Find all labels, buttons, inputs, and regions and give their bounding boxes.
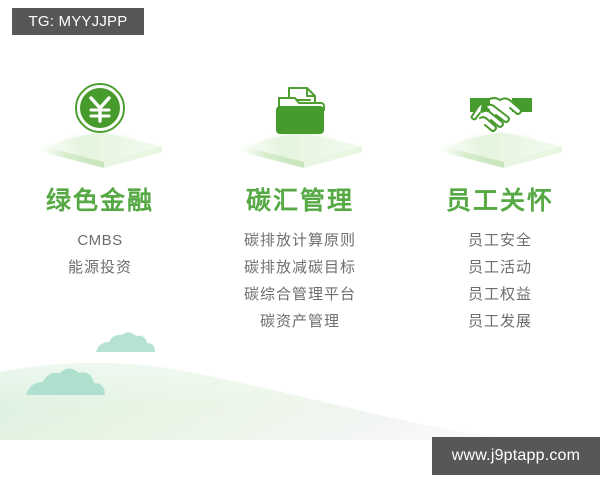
column-list-employee-care: 员工安全 员工活动 员工权益 员工发展 xyxy=(468,232,532,331)
cloud-small-upper-icon xyxy=(96,332,155,352)
column-title-carbon-sink: 碳汇管理 xyxy=(246,188,354,216)
column-title-green-finance: 绿色金融 xyxy=(46,188,154,216)
pedestal-plate xyxy=(42,132,162,168)
list-item[interactable]: 能源投资 xyxy=(68,259,132,277)
list-item[interactable]: 碳综合管理平台 xyxy=(244,286,356,304)
pedestal-plate xyxy=(442,132,562,168)
list-item[interactable]: CMBS xyxy=(77,232,122,250)
cloud-large-lower-icon xyxy=(26,369,105,396)
icon-stage-green-finance xyxy=(20,76,180,172)
list-item[interactable]: 碳排放计算原则 xyxy=(244,232,356,250)
list-item[interactable]: 碳排放减碳目标 xyxy=(244,259,356,277)
feature-column-carbon-sink[interactable]: 碳汇管理 碳排放计算原则 碳排放减碳目标 碳综合管理平台 碳资产管理 xyxy=(200,76,400,331)
yuan-coin-icon xyxy=(76,84,124,132)
column-list-green-finance: CMBS 能源投资 xyxy=(68,232,132,277)
column-list-carbon-sink: 碳排放计算原则 碳排放减碳目标 碳综合管理平台 碳资产管理 xyxy=(244,232,356,331)
icon-stage-employee-care xyxy=(420,76,580,172)
hill-shape xyxy=(0,363,600,444)
watermark-top-left: TG: MYYJJPP xyxy=(12,8,144,35)
icon-stage-carbon-sink xyxy=(220,76,380,172)
column-title-employee-care: 员工关怀 xyxy=(446,188,554,216)
handshake-icon xyxy=(470,98,532,131)
folder-document-icon xyxy=(277,88,324,133)
watermark-bottom-right: www.j9ptapp.com xyxy=(432,437,600,475)
list-item[interactable]: 员工发展 xyxy=(468,313,532,331)
list-item[interactable]: 员工安全 xyxy=(468,232,532,250)
feature-column-employee-care[interactable]: 员工关怀 员工安全 员工活动 员工权益 员工发展 xyxy=(400,76,600,331)
list-item[interactable]: 碳资产管理 xyxy=(260,313,340,331)
feature-column-green-finance[interactable]: 绿色金融 CMBS 能源投资 xyxy=(0,76,200,331)
list-item[interactable]: 员工权益 xyxy=(468,286,532,304)
list-item[interactable]: 员工活动 xyxy=(468,259,532,277)
pedestal-plate xyxy=(242,132,362,168)
feature-columns: 绿色金融 CMBS 能源投资 xyxy=(0,76,600,331)
